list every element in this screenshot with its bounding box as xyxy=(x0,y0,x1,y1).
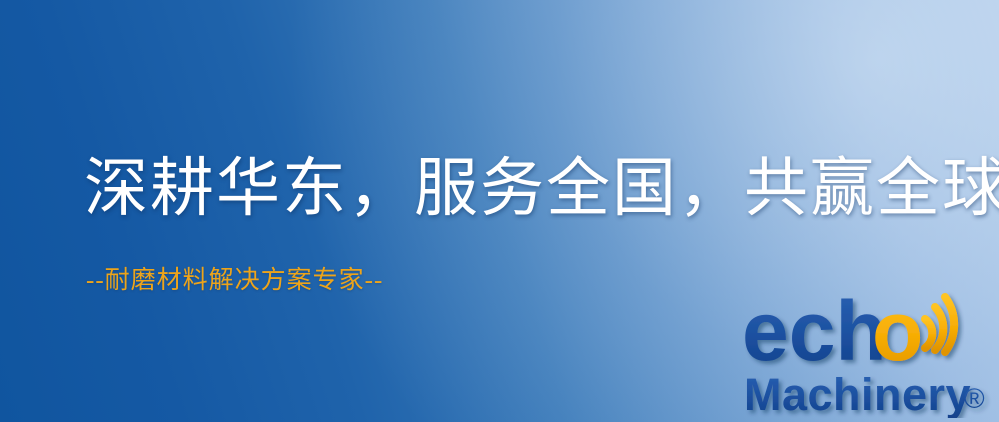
signal-arcs-icon xyxy=(925,297,954,352)
echo-machinery-logo[interactable]: ech o Machinery ® xyxy=(742,292,999,418)
logo-wordmark-ech-text: ech xyxy=(742,292,887,378)
hero-banner: 深耕华东，服务全国，共赢全球 --耐磨材料解决方案专家-- xyxy=(0,0,999,422)
registered-trademark-text: ® xyxy=(964,383,985,414)
logo-wordmark-ech-icon: ech xyxy=(742,292,887,378)
banner-subtitle: --耐磨材料解决方案专家-- xyxy=(86,266,383,296)
banner-headline: 深耕华东，服务全国，共赢全球 xyxy=(84,155,999,222)
logo-wordmark-o-icon: o xyxy=(872,292,923,378)
logo-tagline-icon: Machinery xyxy=(744,369,971,418)
logo-tagline-text: Machinery xyxy=(744,369,971,418)
registered-trademark-icon: ® xyxy=(964,383,985,414)
logo-wordmark-o-text: o xyxy=(872,292,923,378)
